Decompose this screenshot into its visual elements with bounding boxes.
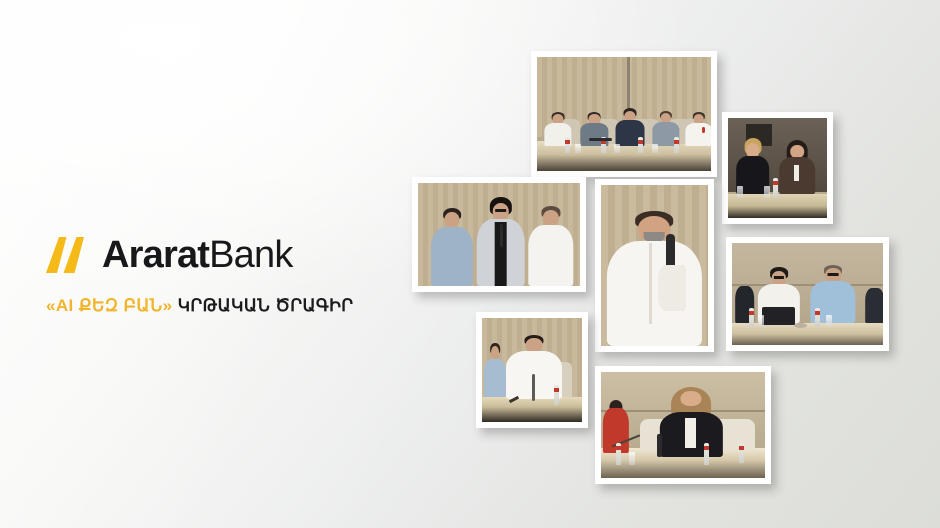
photo-image-two-men-laptop (732, 243, 883, 345)
collage-photo-two-men-laptop (726, 237, 889, 351)
program-tagline: «AI ՔԵԶ ԲԱՆ» ԿՐԹԱԿԱՆ ԾՐԱԳԻՐ (46, 296, 353, 316)
photo-image-top-panel (537, 57, 711, 171)
banner-canvas: AraratBank «AI ՔԵԶ ԲԱՆ» ԿՐԹԱԿԱՆ ԾՐԱԳԻՐ (0, 0, 940, 528)
scene-man-writing (482, 318, 582, 422)
logo-lockup: AraratBank (46, 236, 353, 274)
brand-block: AraratBank «AI ՔԵԶ ԲԱՆ» ԿՐԹԱԿԱՆ ԾՐԱԳԻՐ (46, 236, 353, 316)
wordmark-ararat: Ararat (102, 234, 209, 276)
collage-photo-man-writing (476, 312, 588, 428)
photo-image-three-speakers (418, 183, 580, 286)
wordmark: AraratBank (102, 236, 293, 274)
scene-woman-speaking (601, 372, 765, 478)
scene-three-speakers (418, 183, 580, 286)
tagline-rest: ԿՐԹԱԿԱՆ ԾՐԱԳԻՐ (172, 296, 353, 315)
photo-image-woman-speaking (601, 372, 765, 478)
scene-man-mic (601, 185, 708, 346)
scene-two-men-laptop (732, 243, 883, 345)
tagline-highlight: «AI ՔԵԶ ԲԱՆ» (46, 296, 172, 315)
scene-two-women (728, 118, 827, 218)
photo-image-two-women (728, 118, 827, 218)
collage-photo-three-speakers (412, 177, 586, 292)
wordmark-bank: Bank (209, 234, 292, 276)
scene-conference-panel (537, 57, 711, 171)
ararat-mountain-mark-icon (46, 237, 90, 273)
collage-photo-man-mic (595, 179, 714, 352)
collage-photo-top-panel (531, 51, 717, 177)
photo-image-man-writing (482, 318, 582, 422)
collage-photo-woman-speaking (595, 366, 771, 484)
collage-photo-two-women (722, 112, 833, 224)
photo-image-man-mic (601, 185, 708, 346)
